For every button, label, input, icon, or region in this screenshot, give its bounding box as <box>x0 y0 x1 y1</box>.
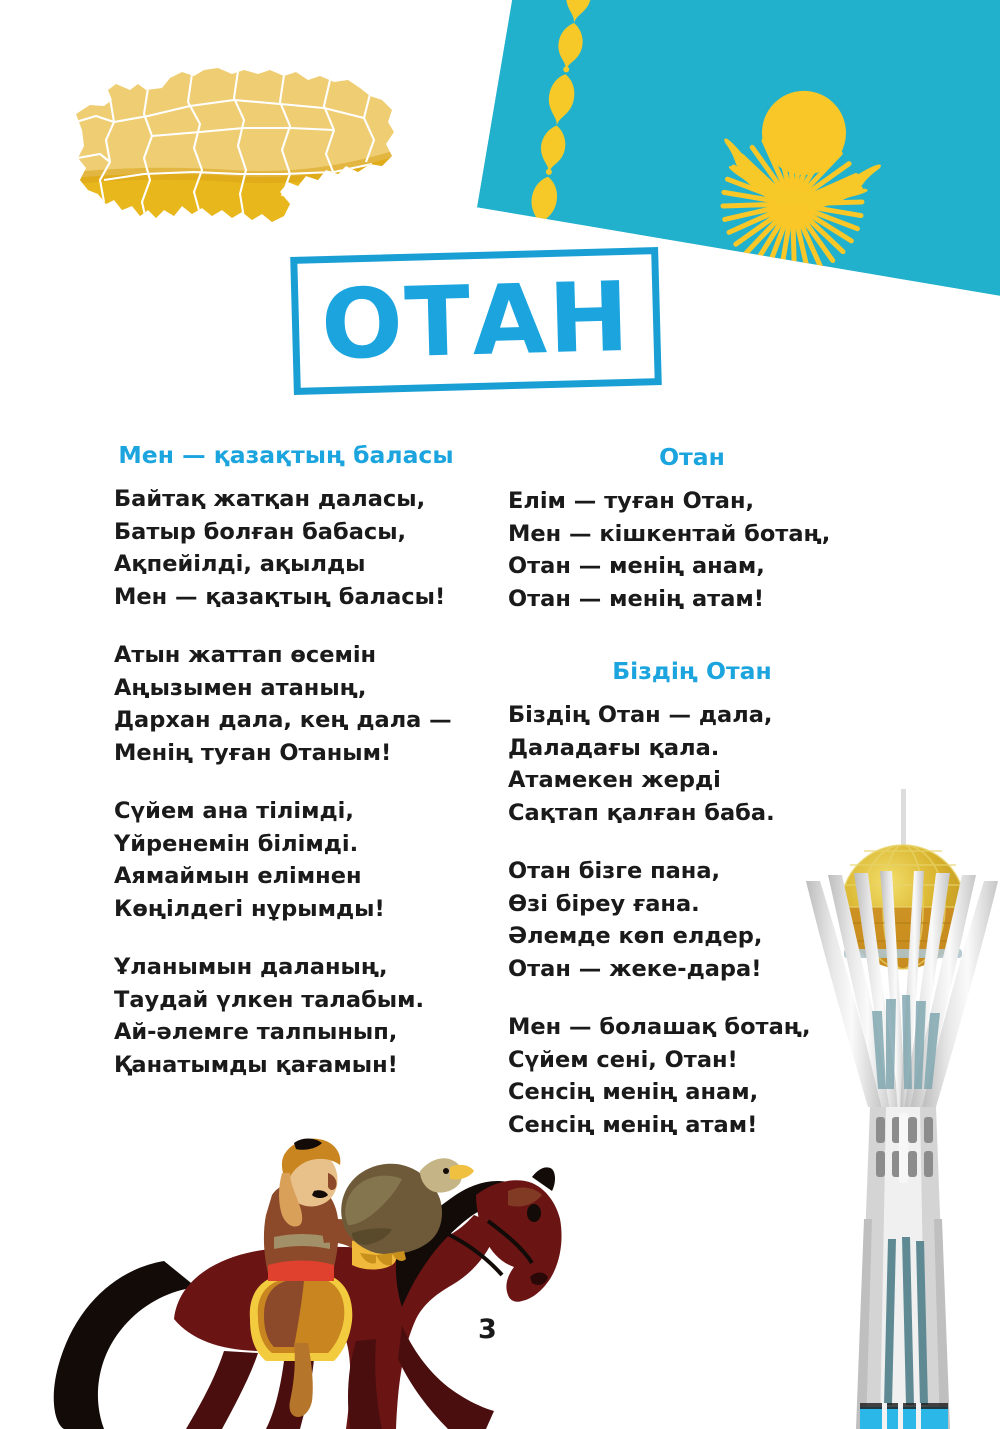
baiterek-tower <box>798 789 1000 1429</box>
poem-stanza: Ұланымын даланың, Таудай үлкен талабым. … <box>96 951 476 1082</box>
tower-base <box>856 1107 950 1429</box>
poem-stanza: Атын жаттап өсемін Аңызымен атаның, Дарх… <box>96 639 476 770</box>
poem-stanza: Елім — туған Отан, Мен — кішкентай ботаң… <box>492 485 892 616</box>
book-page: ОТАН Мен — қазақтың баласы Байтақ жатқан… <box>0 0 1000 1429</box>
horse-tail <box>54 1261 196 1429</box>
rider-belt <box>268 1261 334 1282</box>
poem-stanza: Байтақ жатқан даласы, Батыр болған бабас… <box>96 483 476 614</box>
poem-otan: Отан Елім — туған Отан, Мен — кішкентай … <box>492 442 892 616</box>
page-number: 3 <box>478 1314 497 1345</box>
kazakhstan-map <box>52 62 402 267</box>
page-title: ОТАН <box>290 247 662 395</box>
poem-stanza: Сүйем ана тілімді, Үйренемін білімді. Ая… <box>96 795 476 926</box>
eagle-eye <box>443 1168 449 1174</box>
poem-title: Отан <box>492 442 892 473</box>
poem-title: Мен — қазақтың баласы <box>96 440 476 471</box>
poem-title: Біздің Отан <box>492 656 892 687</box>
berkutchi-eagle-hunter-on-horse <box>46 1129 576 1429</box>
eagle-beak <box>450 1165 474 1180</box>
poem-column-left: Мен — қазақтың баласы Байтақ жатқан дала… <box>96 418 476 1107</box>
horse-front-legs <box>348 1325 494 1429</box>
poem-men-qazaqtyn-balasy: Мен — қазақтың баласы Байтақ жатқан дала… <box>96 440 476 1082</box>
horse-eye <box>527 1204 541 1222</box>
tower-spire <box>901 789 906 849</box>
